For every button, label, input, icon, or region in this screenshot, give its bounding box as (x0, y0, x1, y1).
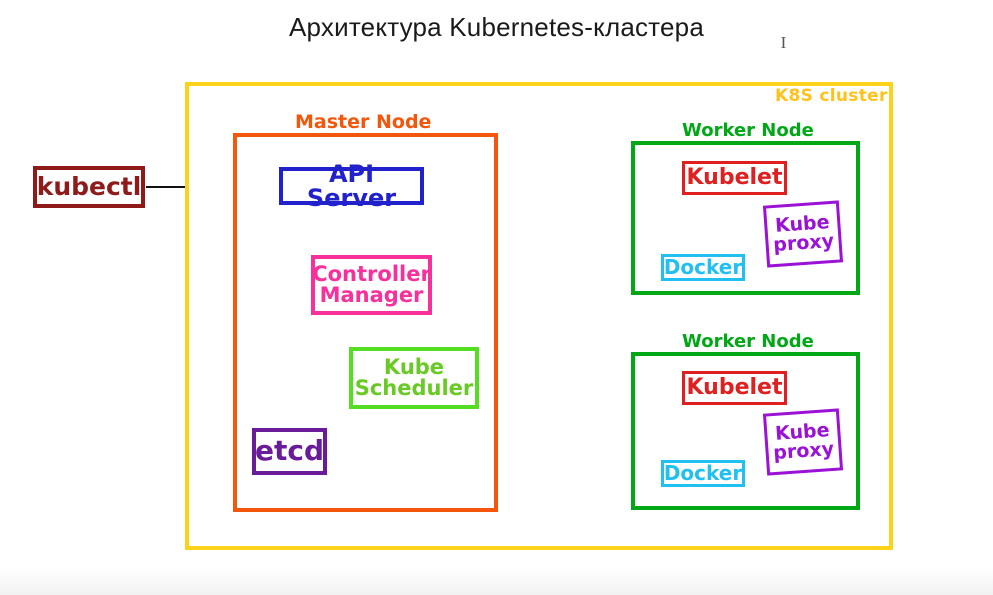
kubectl-node: kubectl (33, 166, 145, 208)
controller-manager-line1: Controller (312, 262, 431, 286)
worker-node-2-label: Worker Node (682, 331, 814, 352)
k8s-cluster-label: K8S cluster (775, 86, 888, 106)
diagram-canvas: Архитектура Kubernetes-кластера I (0, 0, 993, 595)
kube-proxy-node-2: Kube proxy (763, 408, 843, 475)
page-title: Архитектура Kubernetes-кластера (0, 12, 993, 43)
kube-proxy-2-line2: proxy (773, 440, 835, 464)
worker-node-1-label: Worker Node (682, 120, 814, 141)
docker-2-label: Docker (664, 463, 742, 483)
kube-proxy-1-line2: proxy (773, 232, 835, 256)
kubelet-1-label: Kubelet (687, 167, 783, 189)
controller-manager-label: Controller Manager (312, 264, 431, 307)
controller-manager-node: Controller Manager (311, 255, 432, 315)
kube-scheduler-label: Kube Scheduler (355, 357, 474, 400)
etcd-node: etcd (252, 428, 327, 475)
kube-proxy-node-1: Kube proxy (763, 200, 843, 267)
bottom-gradient-band (0, 566, 993, 595)
kubelet-node-1: Kubelet (682, 161, 787, 195)
kube-scheduler-node: Kube Scheduler (349, 347, 479, 409)
docker-node-2: Docker (661, 460, 745, 487)
docker-node-1: Docker (661, 254, 745, 281)
kube-scheduler-line1: Kube (384, 355, 444, 379)
etcd-label: etcd (255, 437, 324, 466)
controller-manager-line2: Manager (320, 283, 424, 307)
kube-scheduler-line2: Scheduler (355, 376, 474, 400)
master-node-label: Master Node (295, 111, 431, 133)
text-cursor-icon: I (779, 33, 788, 53)
api-server-node: API Server (279, 167, 424, 205)
api-server-label: API Server (283, 162, 420, 211)
kubelet-node-2: Kubelet (682, 371, 787, 405)
kubelet-2-label: Kubelet (687, 377, 783, 399)
docker-1-label: Docker (664, 257, 742, 277)
kubectl-label: kubectl (37, 174, 142, 200)
